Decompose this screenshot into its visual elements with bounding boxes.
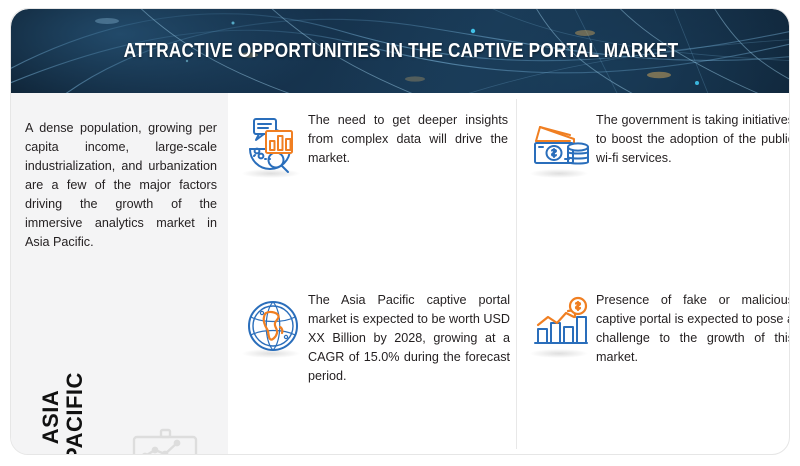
money-coins-icon xyxy=(530,115,592,177)
growth-bar-chart-dollar-icon xyxy=(530,295,592,357)
insight-cell-1: The need to get deeper insights from com… xyxy=(236,111,514,276)
insight-text-4: Presence of fake or malicious captive po… xyxy=(596,291,790,367)
insight-text-3: The Asia Pacific captive portal market i… xyxy=(308,291,510,386)
presentation-chart-magnifier-icon xyxy=(119,423,219,455)
insight-cell-4: Presence of fake or malicious captive po… xyxy=(524,291,786,451)
insight-cell-2: The government is taking initiatives to … xyxy=(524,111,786,276)
column-divider xyxy=(516,99,517,449)
insight-grid: The need to get deeper insights from com… xyxy=(228,93,790,455)
infographic-card: ATTRACTIVE OPPORTUNITIES IN THE CAPTIVE … xyxy=(10,8,790,455)
page-title: ATTRACTIVE OPPORTUNITIES IN THE CAPTIVE … xyxy=(66,9,737,93)
data-insights-chart-icon xyxy=(242,115,304,177)
insight-text-2: The government is taking initiatives to … xyxy=(596,111,790,168)
region-name-label: ASIA PACIFIC xyxy=(39,347,87,455)
region-panel: A dense population, growing per capita i… xyxy=(11,93,228,455)
insight-cell-3: The Asia Pacific captive portal market i… xyxy=(236,291,514,451)
insight-text-1: The need to get deeper insights from com… xyxy=(308,111,508,168)
region-description: A dense population, growing per capita i… xyxy=(25,119,217,252)
header-banner: ATTRACTIVE OPPORTUNITIES IN THE CAPTIVE … xyxy=(11,9,790,93)
globe-icon xyxy=(242,295,304,357)
